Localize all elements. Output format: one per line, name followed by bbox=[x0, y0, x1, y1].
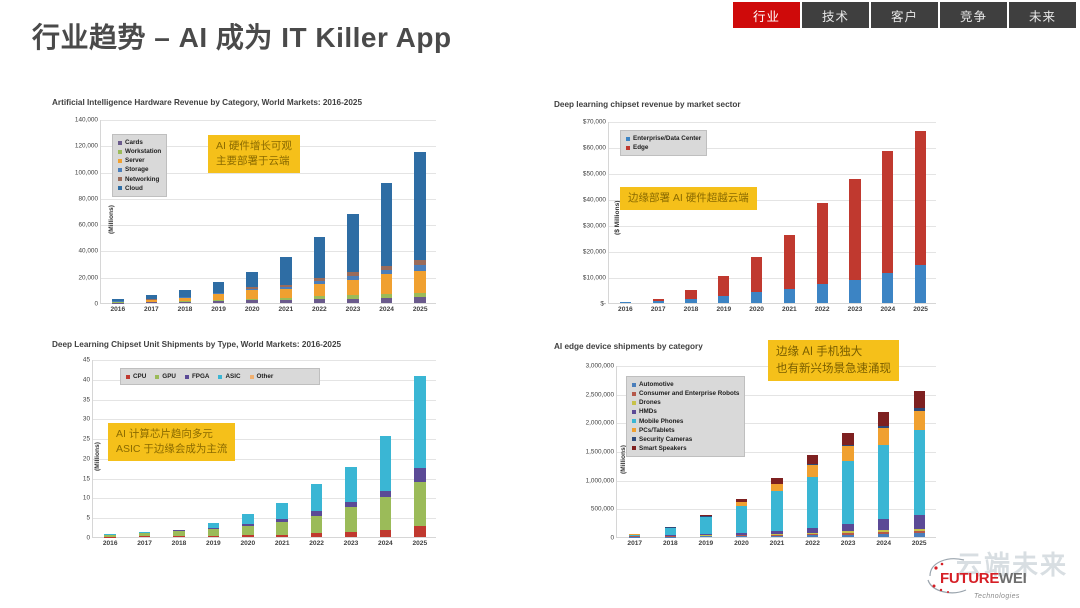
nav-tab-future[interactable]: 未来 bbox=[1009, 2, 1076, 28]
callout-chip-diversity: AI 计算芯片趋向多元 ASIC 于边缘会成为主流 bbox=[108, 423, 235, 461]
nav-tab-industry[interactable]: 行业 bbox=[733, 2, 800, 28]
legend-swatch bbox=[632, 401, 636, 405]
bar-group bbox=[915, 131, 926, 303]
bar-group bbox=[665, 527, 676, 537]
x-tick-label: 2020 bbox=[245, 306, 260, 313]
legend-item: CPU bbox=[126, 372, 146, 381]
x-tick-label: 2018 bbox=[663, 540, 678, 547]
x-tick-label: 2022 bbox=[312, 306, 327, 313]
x-tick-label: 2022 bbox=[309, 540, 324, 547]
bar-segment bbox=[314, 237, 325, 278]
legend-label: Enterprise/Data Center bbox=[633, 134, 701, 143]
bar-group bbox=[314, 237, 325, 303]
legend-swatch bbox=[118, 159, 122, 163]
x-tick-label: 2017 bbox=[137, 540, 152, 547]
bar-segment bbox=[213, 301, 224, 303]
legend-label: Automotive bbox=[639, 380, 674, 389]
x-tick-label: 2023 bbox=[344, 540, 359, 547]
bar-segment bbox=[380, 497, 392, 530]
bar-segment bbox=[242, 535, 254, 537]
bar-segment bbox=[208, 529, 220, 536]
bar-segment bbox=[314, 284, 325, 296]
x-tick-label: 2023 bbox=[848, 306, 863, 313]
bar-segment bbox=[878, 412, 889, 426]
legend-label: Workstation bbox=[125, 147, 161, 156]
x-tick-label: 2022 bbox=[815, 306, 830, 313]
legend-swatch bbox=[632, 446, 636, 450]
y-tick-label: 15 bbox=[83, 475, 90, 482]
bar-segment bbox=[915, 131, 926, 265]
legend-item: HMDs bbox=[632, 407, 739, 416]
bar-group bbox=[112, 299, 123, 303]
callout-edge-mobile: 边缘 AI 手机独大 也有新兴场景急速涌现 bbox=[768, 340, 899, 381]
top-nav: 行业 技术 客户 竞争 未来 bbox=[733, 2, 1076, 28]
bar-segment bbox=[414, 526, 426, 537]
gridline bbox=[93, 419, 436, 420]
legend-item: PCs/Tablets bbox=[632, 426, 739, 435]
legend-item: FPGA bbox=[185, 372, 210, 381]
bar-group bbox=[280, 257, 291, 303]
bar-segment bbox=[751, 257, 762, 292]
bar-group bbox=[213, 282, 224, 303]
legend-label: Edge bbox=[633, 143, 648, 152]
bar-segment bbox=[139, 536, 151, 537]
legend-label: Smart Speakers bbox=[639, 444, 687, 453]
legend-swatch bbox=[632, 419, 636, 423]
nav-tab-label: 行业 bbox=[753, 6, 780, 25]
chart-legend: CPUGPUFPGAASICOther bbox=[120, 368, 320, 385]
bar-group bbox=[146, 295, 157, 303]
bar-segment bbox=[914, 391, 925, 408]
bar-group bbox=[751, 257, 762, 303]
bar-group bbox=[817, 203, 828, 303]
y-tick-label: 40 bbox=[83, 376, 90, 383]
bar-segment bbox=[842, 433, 853, 444]
x-tick-label: 2016 bbox=[103, 540, 118, 547]
bar-segment bbox=[179, 290, 190, 297]
x-tick-label: 2019 bbox=[211, 306, 226, 313]
legend-swatch bbox=[250, 375, 254, 379]
legend-item: Automotive bbox=[632, 380, 739, 389]
x-tick-label: 2020 bbox=[734, 540, 749, 547]
bar-segment bbox=[311, 484, 323, 511]
legend-item: ASIC bbox=[218, 372, 240, 381]
bar-group bbox=[179, 290, 190, 303]
bar-group bbox=[807, 455, 818, 537]
bar-segment bbox=[280, 257, 291, 285]
bar-group bbox=[380, 436, 392, 537]
legend-item: Enterprise/Data Center bbox=[626, 134, 701, 143]
legend-swatch bbox=[118, 168, 122, 172]
bar-segment bbox=[347, 214, 358, 273]
bar-segment bbox=[620, 302, 631, 303]
bar-segment bbox=[736, 506, 747, 533]
bar-segment bbox=[817, 284, 828, 303]
nav-tab-technology[interactable]: 技术 bbox=[802, 2, 869, 28]
callout-line: AI 计算芯片趋向多元 bbox=[116, 427, 227, 442]
x-tick-label: 2022 bbox=[805, 540, 820, 547]
legend-swatch bbox=[126, 375, 130, 379]
bar-group bbox=[784, 235, 795, 303]
bar-segment bbox=[246, 300, 257, 303]
bar-segment bbox=[914, 533, 925, 537]
bar-segment bbox=[849, 280, 860, 303]
bar-group bbox=[653, 299, 664, 303]
bar-group bbox=[104, 534, 116, 537]
x-tick-label: 2018 bbox=[178, 306, 193, 313]
bar-segment bbox=[718, 276, 729, 296]
bar-segment bbox=[242, 526, 254, 535]
bar-segment bbox=[414, 376, 426, 469]
bar-segment bbox=[414, 468, 426, 481]
y-tick-label: $50,000 bbox=[583, 171, 606, 178]
x-tick-label: 2024 bbox=[880, 306, 895, 313]
y-axis-label: (Millions) bbox=[94, 442, 101, 471]
legend-swatch bbox=[118, 150, 122, 154]
legend-swatch bbox=[185, 375, 189, 379]
y-tick-label: $40,000 bbox=[583, 197, 606, 204]
bar-group bbox=[771, 478, 782, 537]
legend-label: Networking bbox=[125, 175, 159, 184]
legend-swatch bbox=[632, 437, 636, 441]
x-tick-label: 2025 bbox=[913, 306, 928, 313]
bar-segment bbox=[280, 289, 291, 297]
x-tick-label: 2020 bbox=[749, 306, 764, 313]
bar-segment bbox=[345, 507, 357, 533]
x-tick-label: 2021 bbox=[278, 306, 293, 313]
bar-segment bbox=[914, 515, 925, 528]
x-tick-label: 2019 bbox=[716, 306, 731, 313]
bar-segment bbox=[784, 289, 795, 303]
nav-tab-label: 客户 bbox=[891, 6, 918, 25]
bar-group bbox=[347, 214, 358, 303]
x-tick-label: 2025 bbox=[412, 540, 427, 547]
legend-swatch bbox=[155, 375, 159, 379]
legend-label: Mobile Phones bbox=[639, 417, 683, 426]
bar-segment bbox=[784, 235, 795, 289]
bar-segment bbox=[213, 282, 224, 293]
bar-group bbox=[311, 484, 323, 537]
legend-swatch bbox=[626, 137, 630, 141]
bar-segment bbox=[817, 203, 828, 284]
legend-label: PCs/Tablets bbox=[639, 426, 675, 435]
y-tick-label: 10 bbox=[83, 495, 90, 502]
x-tick-label: 2021 bbox=[770, 540, 785, 547]
bar-segment bbox=[414, 297, 425, 303]
gridline bbox=[609, 122, 936, 123]
logo-brand-first: FUTURE bbox=[940, 570, 999, 587]
callout-line: 边缘部署 AI 硬件超越云端 bbox=[628, 191, 749, 206]
bar-segment bbox=[736, 536, 747, 537]
legend-label: Consumer and Enterprise Robots bbox=[639, 389, 739, 398]
y-tick-label: 120,000 bbox=[75, 143, 98, 150]
legend-item: Cards bbox=[118, 138, 161, 147]
y-tick-label: $- bbox=[600, 301, 606, 308]
y-tick-label: 45 bbox=[83, 357, 90, 364]
y-tick-label: 80,000 bbox=[78, 195, 98, 202]
legend-item: Security Cameras bbox=[632, 435, 739, 444]
legend-item: Consumer and Enterprise Robots bbox=[632, 389, 739, 398]
legend-label: Other bbox=[257, 372, 274, 381]
legend-swatch bbox=[218, 375, 222, 379]
callout-line: 也有新兴场景急速涌现 bbox=[776, 361, 891, 378]
chart-title: AI edge device shipments by category bbox=[554, 342, 703, 351]
callout-line: 边缘 AI 手机独大 bbox=[776, 344, 891, 361]
chart-legend: AutomotiveConsumer and Enterprise Robots… bbox=[626, 376, 745, 457]
gridline bbox=[101, 120, 436, 121]
bar-segment bbox=[849, 179, 860, 280]
y-tick-label: 5 bbox=[86, 515, 90, 522]
bar-segment bbox=[771, 484, 782, 491]
legend-swatch bbox=[632, 383, 636, 387]
bar-segment bbox=[276, 535, 288, 537]
bar-segment bbox=[414, 152, 425, 260]
legend-swatch bbox=[632, 410, 636, 414]
bar-segment bbox=[347, 299, 358, 303]
bar-group bbox=[718, 276, 729, 303]
legend-label: HMDs bbox=[639, 407, 657, 416]
x-tick-label: 2017 bbox=[651, 306, 666, 313]
callout-edge-exceeds-cloud: 边缘部署 AI 硬件超越云端 bbox=[620, 187, 757, 210]
y-tick-label: 100,000 bbox=[75, 169, 98, 176]
bar-segment bbox=[882, 273, 893, 303]
x-tick-label: 2024 bbox=[378, 540, 393, 547]
bar-segment bbox=[914, 430, 925, 515]
bar-segment bbox=[878, 445, 889, 519]
legend-swatch bbox=[626, 146, 630, 150]
bar-segment bbox=[380, 530, 392, 538]
bar-group bbox=[849, 179, 860, 303]
bar-segment bbox=[718, 296, 729, 303]
bar-group bbox=[700, 515, 711, 537]
legend-item: Smart Speakers bbox=[632, 444, 739, 453]
y-tick-label: 40,000 bbox=[78, 248, 98, 255]
bar-segment bbox=[771, 536, 782, 537]
bar-segment bbox=[276, 503, 288, 519]
x-tick-label: 2016 bbox=[110, 306, 125, 313]
bar-group bbox=[914, 391, 925, 537]
page-title: 行业趋势 – AI 成为 IT Killer App bbox=[32, 16, 452, 56]
legend-item: Storage bbox=[118, 165, 161, 174]
nav-tab-customer[interactable]: 客户 bbox=[871, 2, 938, 28]
y-tick-label: 0 bbox=[94, 301, 98, 308]
chart-title: Deep Learning Chipset Unit Shipments by … bbox=[52, 340, 341, 349]
bar-segment bbox=[381, 298, 392, 303]
bar-segment bbox=[380, 436, 392, 491]
bar-segment bbox=[665, 528, 676, 535]
bar-segment bbox=[700, 536, 711, 537]
futurewei-logo: FUTUREWEI Technologies bbox=[922, 550, 1072, 602]
legend-item: Cloud bbox=[118, 184, 161, 193]
x-tick-label: 2024 bbox=[876, 540, 891, 547]
bar-segment bbox=[878, 428, 889, 445]
bar-group bbox=[345, 467, 357, 537]
bar-segment bbox=[381, 183, 392, 265]
callout-ai-hardware: AI 硬件增长可观 主要部署于云端 bbox=[208, 135, 300, 173]
bar-group bbox=[246, 271, 257, 303]
x-tick-label: 2020 bbox=[240, 540, 255, 547]
legend-label: FPGA bbox=[192, 372, 210, 381]
x-tick-label: 2019 bbox=[699, 540, 714, 547]
bar-segment bbox=[345, 532, 357, 537]
bar-segment bbox=[414, 271, 425, 293]
legend-label: Storage bbox=[125, 165, 148, 174]
y-axis-label: (Millions) bbox=[108, 205, 115, 234]
bar-segment bbox=[280, 300, 291, 303]
bar-segment bbox=[915, 265, 926, 303]
bar-segment bbox=[345, 467, 357, 501]
y-tick-label: $10,000 bbox=[583, 275, 606, 282]
chart-ai-hardware-revenue: Artificial Intelligence Hardware Revenue… bbox=[52, 98, 442, 328]
bar-segment bbox=[807, 455, 818, 463]
legend-item: Edge bbox=[626, 143, 701, 152]
y-tick-label: 3,000,000 bbox=[586, 363, 614, 370]
bar-segment bbox=[311, 533, 323, 537]
bar-group bbox=[276, 503, 288, 537]
y-tick-label: 140,000 bbox=[75, 117, 98, 124]
bar-group bbox=[414, 152, 425, 303]
bar-segment bbox=[414, 482, 426, 527]
legend-item: Other bbox=[250, 372, 274, 381]
bar-group bbox=[629, 534, 640, 537]
bar-segment bbox=[246, 272, 257, 288]
x-tick-label: 2021 bbox=[275, 540, 290, 547]
bar-segment bbox=[751, 292, 762, 303]
legend-label: Security Cameras bbox=[639, 435, 692, 444]
bar-group bbox=[736, 499, 747, 537]
nav-tab-label: 未来 bbox=[1029, 6, 1056, 25]
bar-group bbox=[620, 302, 631, 303]
legend-item: Networking bbox=[118, 175, 161, 184]
bar-segment bbox=[685, 290, 696, 299]
legend-swatch bbox=[632, 428, 636, 432]
bar-group bbox=[685, 290, 696, 303]
legend-swatch bbox=[118, 177, 122, 181]
x-tick-label: 2017 bbox=[627, 540, 642, 547]
y-tick-label: 30 bbox=[83, 416, 90, 423]
y-tick-label: $70,000 bbox=[583, 119, 606, 126]
bar-group bbox=[208, 523, 220, 537]
bar-segment bbox=[807, 465, 818, 477]
legend-item: Server bbox=[118, 156, 161, 165]
legend-label: Cloud bbox=[125, 184, 143, 193]
legend-label: Server bbox=[125, 156, 145, 165]
y-tick-label: $20,000 bbox=[583, 249, 606, 256]
callout-line: AI 硬件增长可观 bbox=[216, 139, 292, 154]
legend-item: Mobile Phones bbox=[632, 417, 739, 426]
bar-segment bbox=[311, 516, 323, 534]
legend-label: ASIC bbox=[225, 372, 240, 381]
chart-legend: CardsWorkstationServerStorageNetworkingC… bbox=[112, 134, 167, 197]
callout-line: 主要部署于云端 bbox=[216, 154, 292, 169]
x-tick-label: 2024 bbox=[379, 306, 394, 313]
y-tick-label: 500,000 bbox=[591, 506, 614, 513]
y-tick-label: 2,000,000 bbox=[586, 420, 614, 427]
x-tick-label: 2023 bbox=[841, 540, 856, 547]
y-tick-label: $60,000 bbox=[583, 145, 606, 152]
callout-line: ASIC 于边缘会成为主流 bbox=[116, 442, 227, 457]
x-tick-label: 2021 bbox=[782, 306, 797, 313]
bar-segment bbox=[878, 534, 889, 537]
bar-group bbox=[414, 376, 426, 537]
bar-segment bbox=[276, 522, 288, 535]
legend-swatch bbox=[118, 186, 122, 190]
x-tick-label: 2025 bbox=[413, 306, 428, 313]
bar-segment bbox=[653, 301, 664, 303]
bar-segment bbox=[882, 151, 893, 272]
legend-swatch bbox=[632, 392, 636, 396]
y-tick-label: $30,000 bbox=[583, 223, 606, 230]
bar-segment bbox=[700, 517, 711, 534]
bar-group bbox=[842, 433, 853, 537]
y-tick-label: 2,500,000 bbox=[586, 391, 614, 398]
x-tick-label: 2023 bbox=[346, 306, 361, 313]
gridline bbox=[93, 360, 436, 361]
bar-segment bbox=[914, 411, 925, 430]
nav-tab-competition[interactable]: 竞争 bbox=[940, 2, 1007, 28]
legend-swatch bbox=[118, 141, 122, 145]
y-tick-label: 0 bbox=[86, 535, 90, 542]
chart-legend: Enterprise/Data CenterEdge bbox=[620, 130, 707, 156]
x-tick-label: 2017 bbox=[144, 306, 159, 313]
y-tick-label: 0 bbox=[610, 535, 614, 542]
chart-dl-chipset-revenue: Deep learning chipset revenue by market … bbox=[554, 100, 942, 328]
bar-segment bbox=[146, 302, 157, 303]
x-tick-label: 2025 bbox=[912, 540, 927, 547]
x-tick-label: 2018 bbox=[684, 306, 699, 313]
bar-group bbox=[381, 183, 392, 303]
bar-segment bbox=[842, 524, 853, 532]
bar-segment bbox=[842, 535, 853, 537]
legend-item: Workstation bbox=[118, 147, 161, 156]
bar-segment bbox=[173, 536, 185, 537]
chart-title: Artificial Intelligence Hardware Revenue… bbox=[52, 98, 362, 107]
nav-tab-label: 竞争 bbox=[960, 6, 987, 25]
bar-segment bbox=[685, 299, 696, 303]
bar-segment bbox=[807, 535, 818, 537]
y-tick-label: 20 bbox=[83, 455, 90, 462]
y-tick-label: 25 bbox=[83, 436, 90, 443]
x-tick-label: 2018 bbox=[172, 540, 187, 547]
legend-item: GPU bbox=[155, 372, 176, 381]
y-tick-label: 1,500,000 bbox=[586, 449, 614, 456]
y-tick-label: 1,000,000 bbox=[586, 477, 614, 484]
bar-segment bbox=[208, 536, 220, 537]
bar-segment bbox=[878, 519, 889, 530]
bar-segment bbox=[771, 491, 782, 531]
bar-segment bbox=[347, 280, 358, 296]
bar-group bbox=[878, 412, 889, 537]
bar-group bbox=[242, 513, 254, 537]
bar-segment bbox=[842, 461, 853, 524]
bar-group bbox=[173, 530, 185, 537]
bar-segment bbox=[179, 302, 190, 303]
legend-label: GPU bbox=[162, 372, 176, 381]
bar-segment bbox=[842, 446, 853, 461]
x-tick-label: 2019 bbox=[206, 540, 221, 547]
y-tick-label: 60,000 bbox=[78, 222, 98, 229]
gridline bbox=[93, 400, 436, 401]
logo-wordmark: FUTUREWEI bbox=[940, 570, 1026, 588]
bar-group bbox=[139, 532, 151, 537]
bar-segment bbox=[242, 514, 254, 525]
nav-tab-label: 技术 bbox=[822, 6, 849, 25]
y-tick-label: 20,000 bbox=[78, 274, 98, 281]
legend-label: Cards bbox=[125, 138, 143, 147]
bar-segment bbox=[246, 290, 257, 299]
legend-label: Drones bbox=[639, 398, 661, 407]
logo-brand-second: WEI bbox=[999, 570, 1026, 587]
